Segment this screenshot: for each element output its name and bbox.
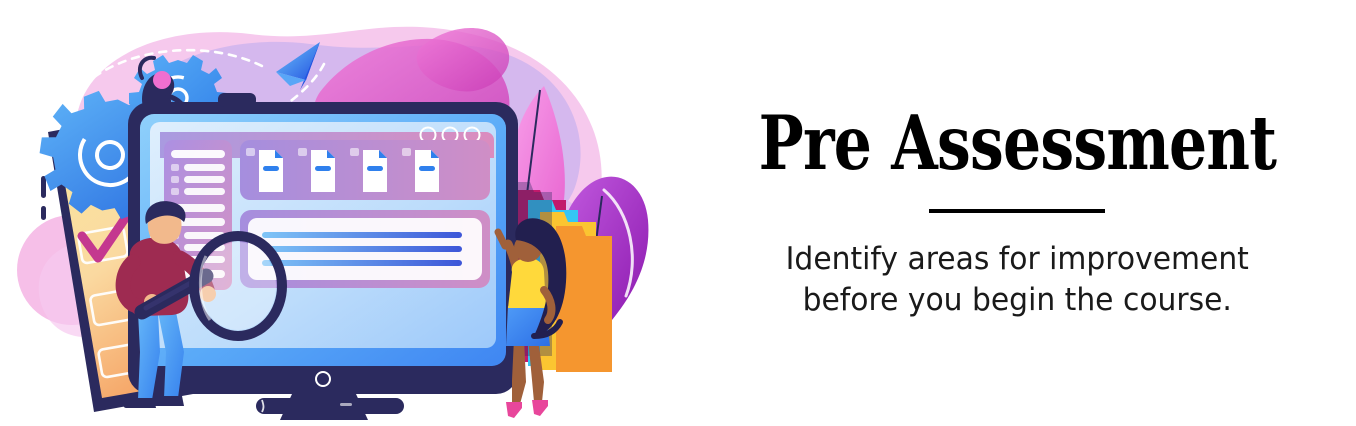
page-subtitle: Identify areas for improvement before yo… [785, 239, 1248, 321]
pre-assessment-illustration [0, 0, 678, 426]
pre-assessment-banner: Pre Assessment Identify areas for improv… [0, 0, 1356, 426]
subtitle-line-2: before you begin the course. [785, 280, 1248, 321]
banner-text-block: Pre Assessment Identify areas for improv… [678, 0, 1356, 426]
monitor-base [256, 398, 404, 414]
document-cards-row [240, 140, 490, 200]
page-title: Pre Assessment [758, 106, 1275, 181]
subtitle-line-1: Identify areas for improvement [785, 239, 1248, 280]
title-divider [929, 209, 1105, 213]
